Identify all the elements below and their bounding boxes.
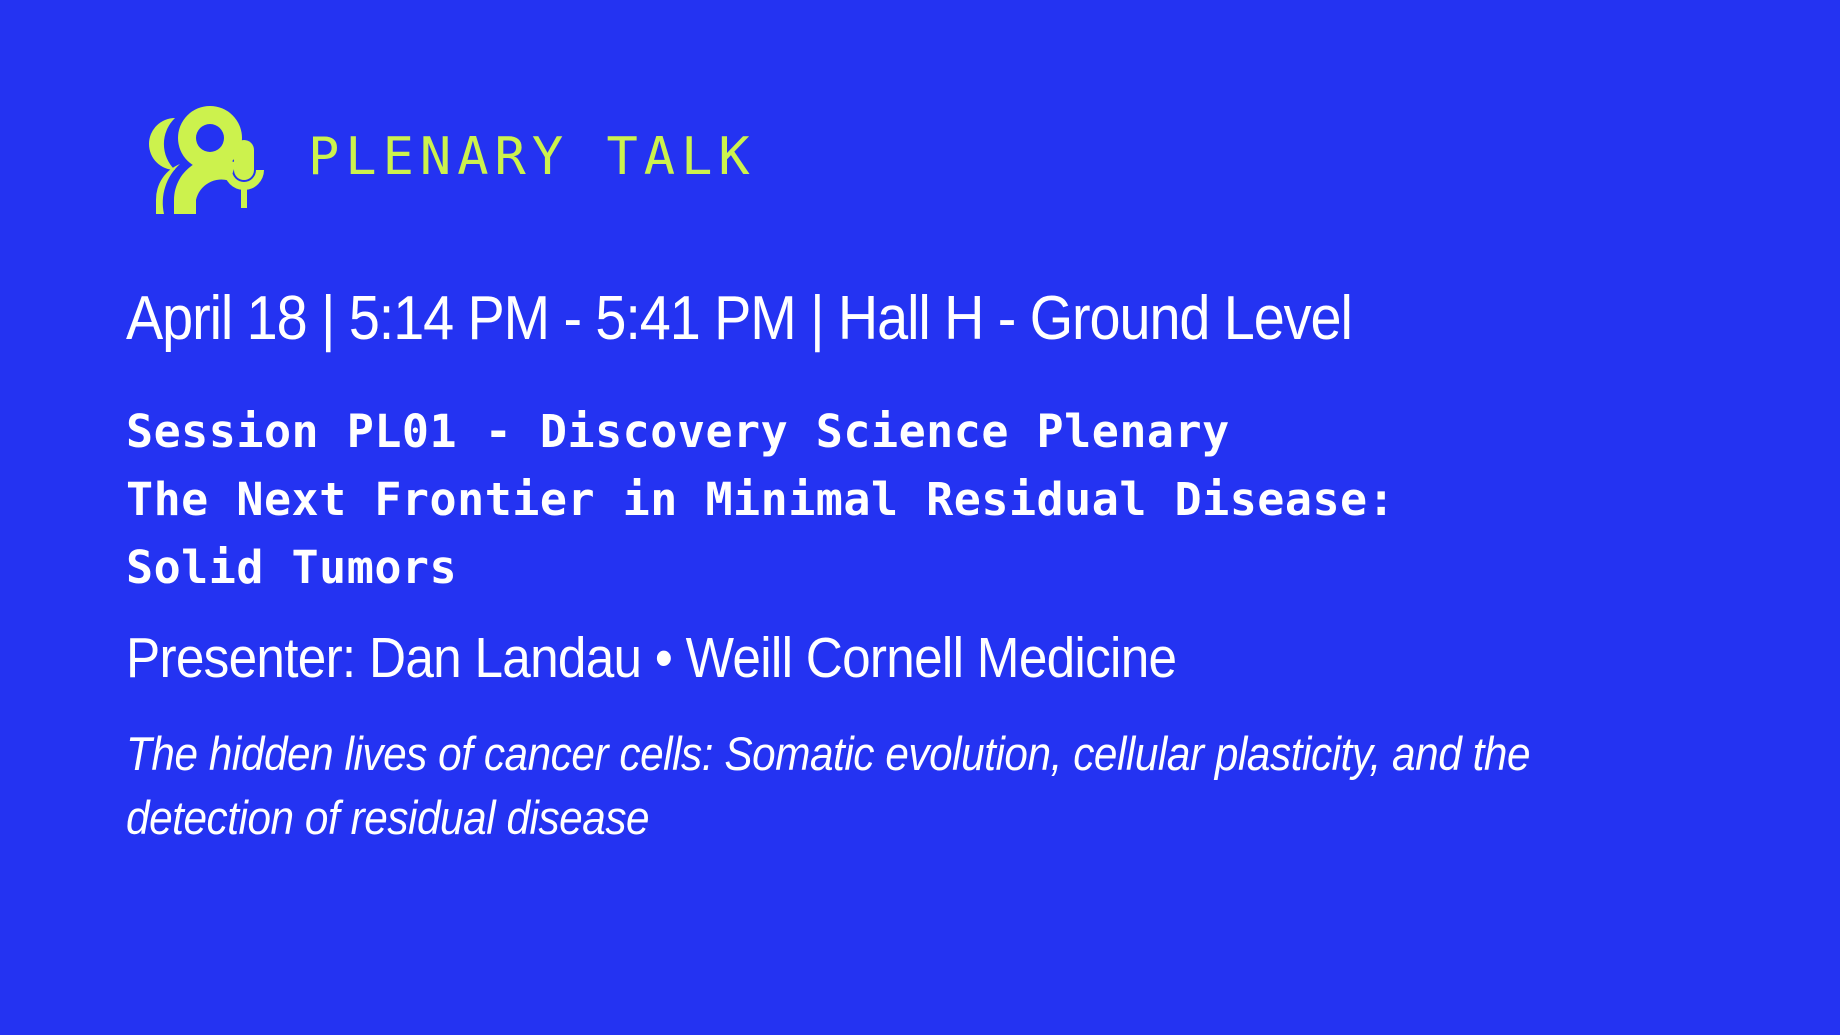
session-type-header: PLENARY TALK <box>118 96 756 214</box>
abstract-line-1: The hidden lives of cancer cells: Somati… <box>126 722 1422 786</box>
session-type-label: PLENARY TALK <box>308 131 756 183</box>
session-title-line-2: Solid Tumors <box>126 534 1596 602</box>
abstract-block: The hidden lives of cancer cells: Somati… <box>126 722 1566 850</box>
session-title-block: Session PL01 - Discovery Science Plenary… <box>126 398 1596 602</box>
people-with-microphone-icon <box>118 96 270 214</box>
session-datetime-location: April 18 | 5:14 PM - 5:41 PM | Hall H - … <box>126 288 1352 350</box>
session-card: PLENARY TALK April 18 | 5:14 PM - 5:41 P… <box>0 0 1840 1035</box>
session-title-line-1: The Next Frontier in Minimal Residual Di… <box>126 466 1596 534</box>
session-name-line: Session PL01 - Discovery Science Plenary <box>126 398 1596 466</box>
presenter-line: Presenter: Dan Landau • Weill Cornell Me… <box>126 630 1176 687</box>
abstract-line-2: detection of residual disease <box>126 786 1422 850</box>
